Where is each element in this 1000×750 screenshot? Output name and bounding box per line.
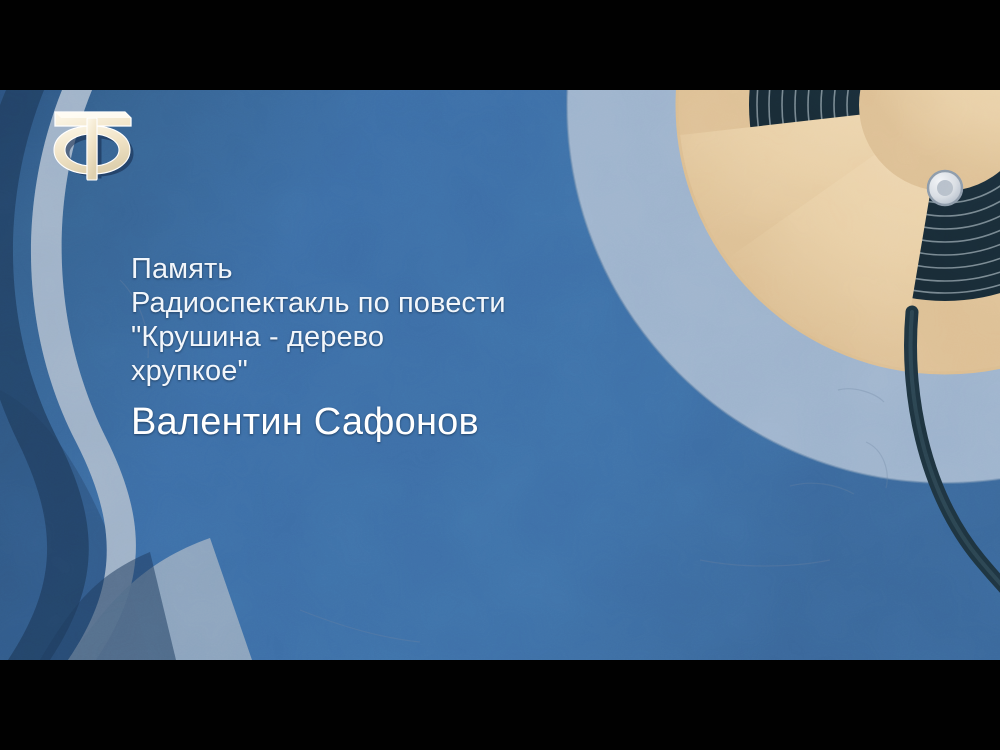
caption-subtitle-line-2: "Крушина - дерево bbox=[131, 320, 691, 354]
tf-monogram-icon bbox=[47, 104, 139, 184]
cover-caption: Память Радиоспектакль по повести "Крушин… bbox=[131, 252, 691, 447]
gosteleradiofond-logo bbox=[47, 104, 139, 184]
caption-author: Валентин Сафонов bbox=[131, 397, 691, 447]
caption-subtitle-line-3: хрупкое" bbox=[131, 354, 691, 388]
letterbox-bar-top bbox=[0, 0, 1000, 90]
caption-subtitle-line-1: Радиоспектакль по повести bbox=[131, 286, 691, 320]
video-thumbnail: Память Радиоспектакль по повести "Крушин… bbox=[0, 0, 1000, 750]
caption-title: Память bbox=[131, 252, 691, 286]
letterbox-bar-bottom bbox=[0, 660, 1000, 750]
